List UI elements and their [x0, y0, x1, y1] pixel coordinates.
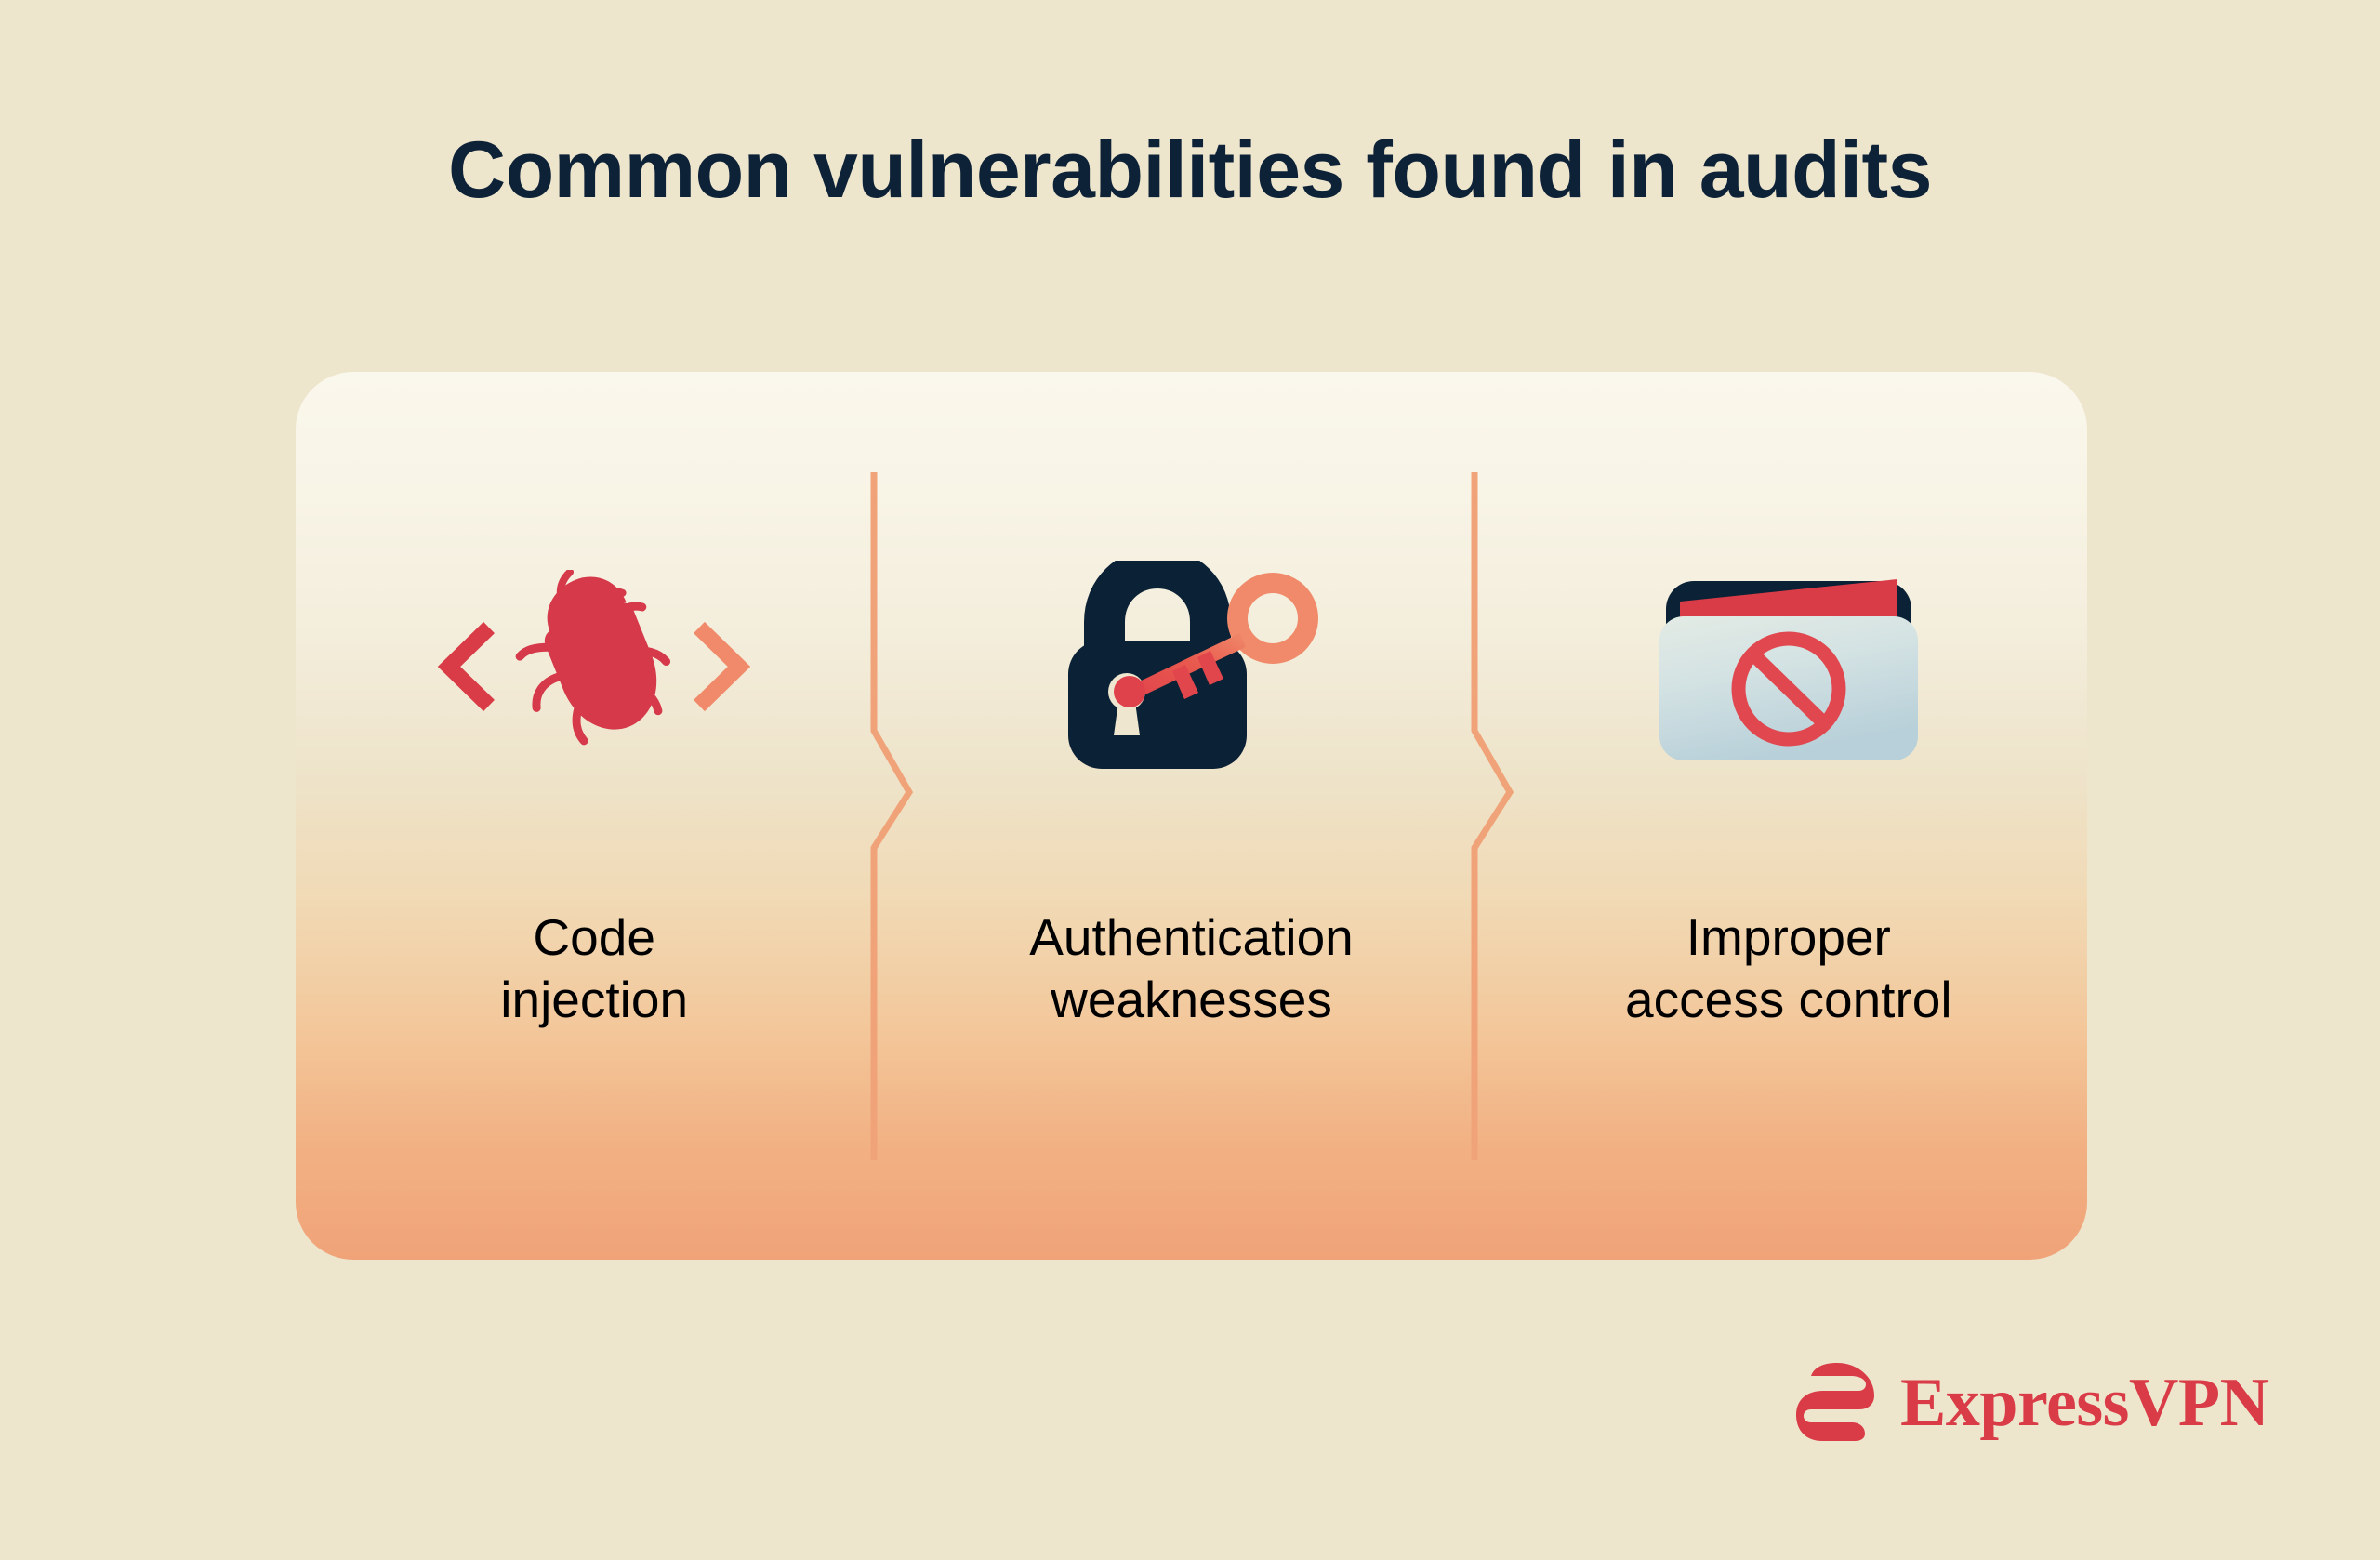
column-improper-access-control — [1490, 372, 2087, 1260]
column-authentication-weaknesses — [892, 372, 1489, 1260]
bracket-left-glyph — [449, 628, 489, 706]
page-title: Common vulnerabilities found in audits — [0, 126, 2380, 215]
bug-icon — [436, 570, 752, 770]
columns-container — [296, 372, 2087, 1260]
expressvpn-e-mark-icon — [1794, 1357, 1880, 1448]
restricted-folder-icon-wrapper — [1490, 549, 2087, 790]
bracket-right-glyph — [699, 628, 739, 706]
restricted-folder-icon — [1654, 570, 1924, 770]
vulnerabilities-card: Code injection Authentication weaknesses… — [296, 372, 2087, 1260]
lock-and-key-icon — [1061, 561, 1321, 779]
bug-icon-wrapper — [296, 549, 892, 790]
column-code-injection — [296, 372, 892, 1260]
lock-and-key-icon-wrapper — [892, 549, 1489, 790]
expressvpn-wordmark: ExpressVPN — [1900, 1368, 2269, 1437]
expressvpn-logo: ExpressVPN — [1794, 1357, 2269, 1448]
bug-glyph — [495, 570, 684, 756]
